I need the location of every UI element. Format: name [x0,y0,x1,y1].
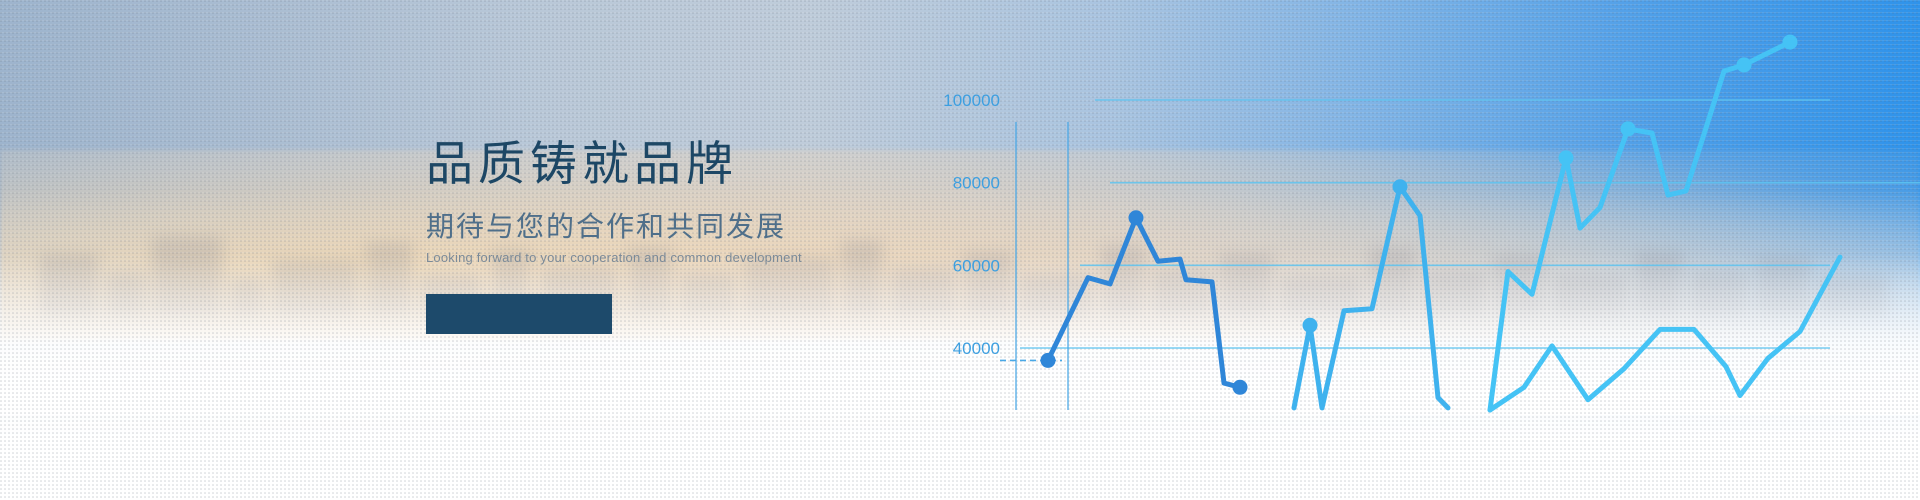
subtitle-en: Looking forward to your cooperation and … [426,251,802,264]
subtitle-cn: 期待与您的合作和共同发展 [426,213,802,241]
cta-button[interactable] [426,294,612,334]
background-haze [0,255,1920,415]
hero-copy: 品质铸就品牌 期待与您的合作和共同发展 Looking forward to y… [426,140,802,334]
hero-banner: 400006000080000100000 品质铸就品牌 期待与您的合作和共同发… [0,0,1920,500]
page-title: 品质铸就品牌 [426,140,802,187]
